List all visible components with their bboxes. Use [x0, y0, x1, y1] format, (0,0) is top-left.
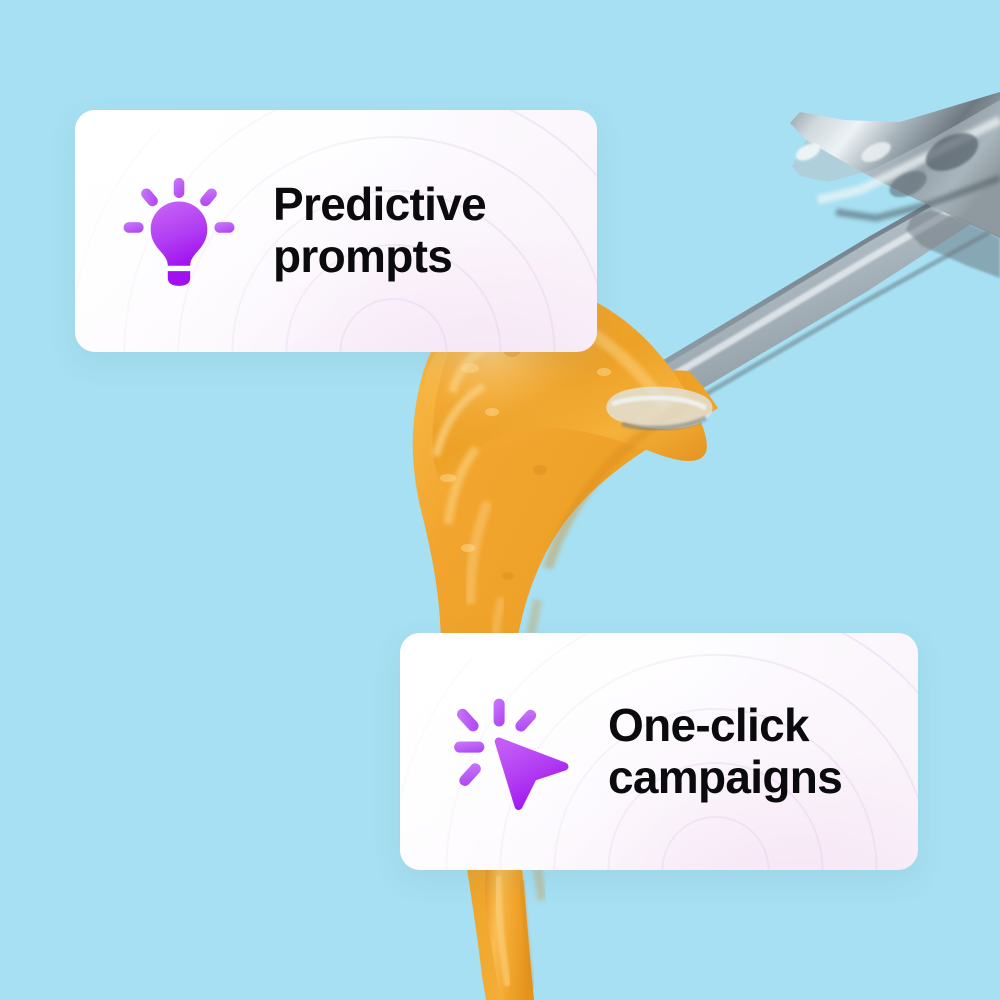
lightbulb-icon — [119, 171, 239, 291]
card-label-predictive-prompts: Predictive prompts — [273, 179, 486, 282]
feature-card-one-click-campaigns[interactable]: One-click campaigns — [400, 633, 918, 870]
click-cursor-icon — [452, 693, 570, 811]
feature-card-predictive-prompts[interactable]: Predictive prompts — [75, 110, 597, 352]
promo-graphic: Predictive prompts — [0, 0, 1000, 1000]
card-label-one-click-campaigns: One-click campaigns — [608, 700, 842, 803]
